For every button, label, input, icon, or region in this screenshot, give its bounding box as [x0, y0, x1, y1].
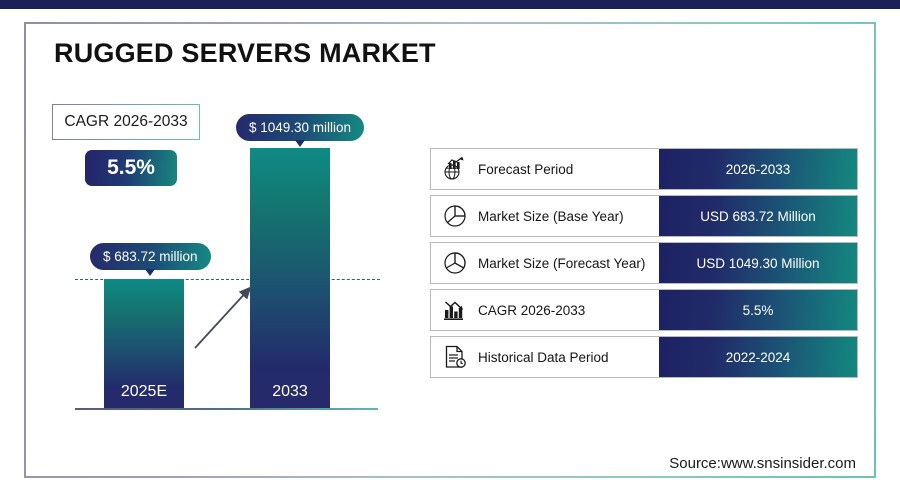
- pie-chart-icon: [441, 202, 469, 230]
- bar-2025e: 2025E: [104, 279, 184, 408]
- table-row-value-cell: USD 1049.30 Million: [659, 243, 857, 283]
- bar-value-text-2033: $ 1049.30 million: [249, 120, 351, 135]
- segmented-pie-chart-icon: [441, 249, 469, 277]
- table-row: Forecast Period 2026-2033: [430, 148, 858, 190]
- growth-arrow-icon: [185, 280, 265, 355]
- top-accent-bar: [0, 0, 900, 9]
- table-row-value: 5.5%: [743, 303, 774, 318]
- bar-2033: 2033: [250, 148, 330, 408]
- table-row-value: 2022-2024: [726, 350, 791, 365]
- bar-value-badge-2033: $ 1049.30 million: [236, 114, 364, 141]
- table-row-label-cell: Forecast Period: [431, 149, 659, 189]
- bar-value-text-2025e: $ 683.72 million: [103, 249, 198, 264]
- table-row-label-cell: CAGR 2026-2033: [431, 290, 659, 330]
- page-title: RUGGED SERVERS MARKET: [54, 38, 436, 69]
- bar-value-badge-2025e: $ 683.72 million: [90, 243, 211, 270]
- globe-growth-chart-icon: [441, 155, 469, 183]
- table-row-value: USD 683.72 Million: [700, 209, 816, 224]
- bar-2033-fill: [250, 148, 330, 408]
- table-row-label: Forecast Period: [478, 162, 573, 177]
- table-row-label: Historical Data Period: [478, 350, 609, 365]
- table-row-label-cell: Historical Data Period: [431, 337, 659, 377]
- table-row-value-cell: 5.5%: [659, 290, 857, 330]
- metrics-table: Forecast Period 2026-2033 Market Size (B: [430, 148, 858, 383]
- table-row: CAGR 2026-2033 5.5%: [430, 289, 858, 331]
- table-row-label: Market Size (Forecast Year): [478, 256, 645, 271]
- table-row-value-cell: USD 683.72 Million: [659, 196, 857, 236]
- bar-chart: $ 683.72 million $ 1049.30 million 2025E…: [60, 100, 400, 430]
- table-row: Historical Data Period 2022-2024: [430, 336, 858, 378]
- table-row-value-cell: 2026-2033: [659, 149, 857, 189]
- table-row-value-cell: 2022-2024: [659, 337, 857, 377]
- table-row-value: 2026-2033: [726, 162, 791, 177]
- table-row-label-cell: Market Size (Forecast Year): [431, 243, 659, 283]
- source-attribution: Source:www.snsinsider.com: [669, 455, 856, 472]
- document-clock-icon: [441, 343, 469, 371]
- table-row-label: CAGR 2026-2033: [478, 303, 585, 318]
- table-row-value: USD 1049.30 Million: [696, 256, 819, 271]
- table-row-label: Market Size (Base Year): [478, 209, 624, 224]
- table-row: Market Size (Base Year) USD 683.72 Milli…: [430, 195, 858, 237]
- bar-2033-label: 2033: [250, 383, 330, 401]
- bar-2025e-label: 2025E: [104, 383, 184, 401]
- infographic-root: RUGGED SERVERS MARKET CAGR 2026-2033 5.5…: [0, 0, 900, 500]
- x-axis-line: [75, 408, 378, 410]
- bar-chart-arrow-icon: [441, 296, 469, 324]
- table-row-label-cell: Market Size (Base Year): [431, 196, 659, 236]
- table-row: Market Size (Forecast Year) USD 1049.30 …: [430, 242, 858, 284]
